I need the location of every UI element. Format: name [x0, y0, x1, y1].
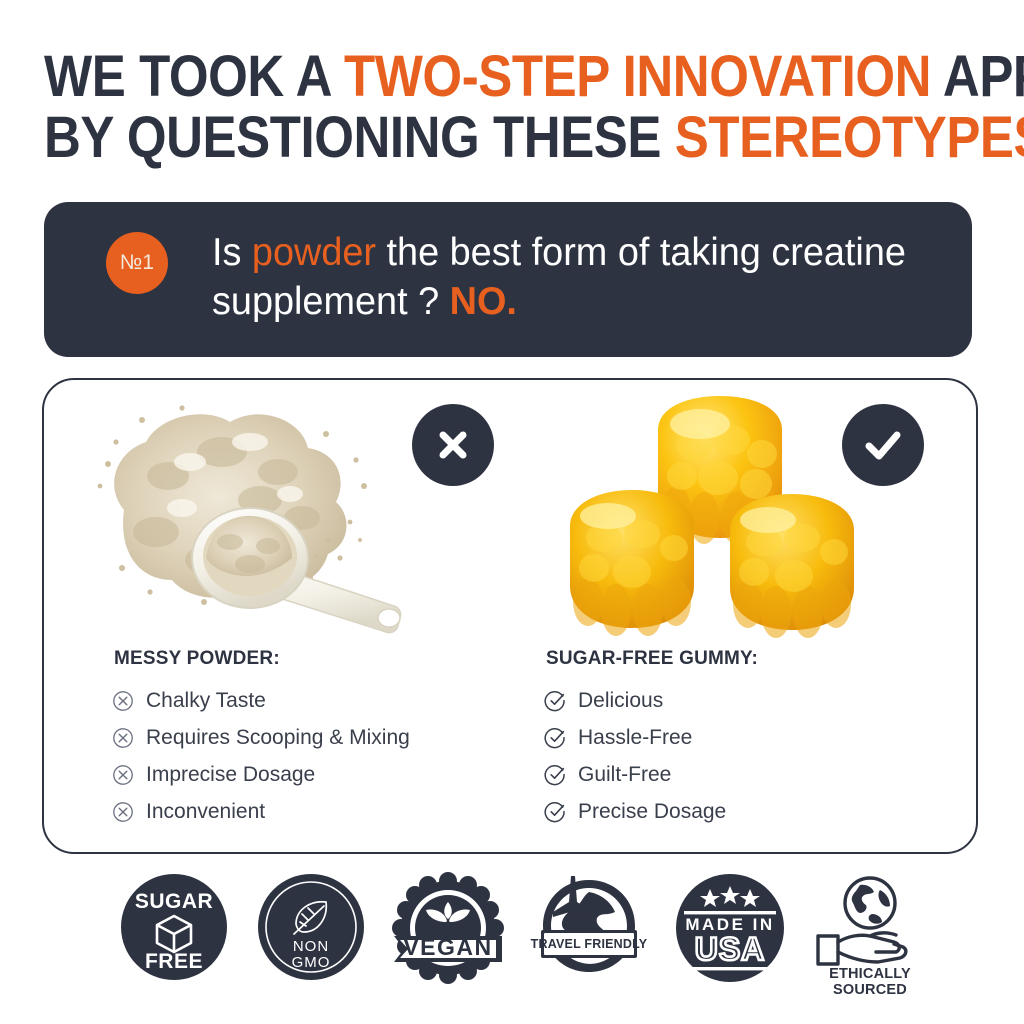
- question-text: Is powder the best form of taking creati…: [212, 228, 949, 326]
- list-item-label: Inconvenient: [146, 800, 265, 824]
- headline-accent-2: STEREOTYPES: [675, 105, 1024, 170]
- circle-x-icon: [112, 801, 146, 823]
- list-item-label: Delicious: [578, 689, 663, 713]
- list-item: Imprecise Dosage: [112, 756, 542, 793]
- page-headline: WE TOOK A TWO-STEP INNOVATION APPROACH B…: [44, 46, 871, 168]
- sugar-free-seal-line2: FREE: [145, 950, 203, 973]
- powder-scoop-image: [64, 390, 444, 645]
- list-item-label: Hassle-Free: [578, 726, 692, 750]
- non-gmo-seal: NON GMO: [249, 872, 373, 1004]
- non-gmo-seal-line1: NON: [293, 938, 329, 955]
- headline-line-1: WE TOOK A TWO-STEP INNOVATION APPROACH: [44, 46, 871, 107]
- non-gmo-seal-line2: GMO: [292, 954, 331, 971]
- list-item: Hassle-Free: [544, 719, 964, 756]
- made-in-usa-seal: MADE IN USA: [668, 872, 792, 1004]
- circle-check-icon: [544, 726, 578, 749]
- list-item-label: Imprecise Dosage: [146, 763, 315, 787]
- powder-illustration: [64, 390, 444, 645]
- list-item: Inconvenient: [112, 793, 542, 830]
- list-item: Chalky Taste: [112, 682, 542, 719]
- circle-x-icon: [112, 727, 146, 749]
- circle-check-icon: [544, 800, 578, 823]
- headline-text-3: BY QUESTIONING THESE: [44, 105, 675, 170]
- list-item-label: Requires Scooping & Mixing: [146, 726, 410, 750]
- verdict-cross-badge: [412, 404, 494, 486]
- verdict-check-badge: [842, 404, 924, 486]
- gummy-column-title: SUGAR-FREE GUMMY:: [546, 648, 964, 670]
- vegan-seal: VEGAN: [386, 872, 510, 1004]
- sugar-free-seal: SUGAR FREE: [112, 872, 236, 1004]
- ethically-sourced-line2: SOURCED: [833, 982, 907, 998]
- comparison-card: MESSY POWDER: Chalky Taste: [42, 378, 978, 854]
- travel-friendly-seal-label: TRAVEL FRIENDLY: [531, 937, 648, 951]
- infographic-page: WE TOOK A TWO-STEP INNOVATION APPROACH B…: [0, 0, 1024, 1024]
- certification-seal-row: SUGAR FREE NON GMO: [0, 872, 1024, 1012]
- question-number-badge: №1: [106, 232, 168, 294]
- check-icon: [859, 423, 907, 467]
- gummies-illustration: [554, 390, 894, 645]
- list-item-label: Chalky Taste: [146, 689, 266, 713]
- powder-column-title: MESSY POWDER:: [114, 648, 542, 670]
- list-item: Delicious: [544, 682, 964, 719]
- question-accent-powder: powder: [252, 231, 376, 274]
- gummies-image: [554, 390, 894, 645]
- list-item-label: Guilt-Free: [578, 763, 671, 787]
- made-in-usa-seal-line2: USA: [695, 931, 766, 967]
- sugar-free-seal-line1: SUGAR: [135, 890, 213, 913]
- list-item: Requires Scooping & Mixing: [112, 719, 542, 756]
- circle-x-icon: [112, 690, 146, 712]
- circle-x-icon: [112, 764, 146, 786]
- gummy-column: SUGAR-FREE GUMMY: Delicious H: [544, 648, 964, 830]
- circle-check-icon: [544, 689, 578, 712]
- list-item: Precise Dosage: [544, 793, 964, 830]
- question-text-1: Is: [212, 231, 252, 274]
- cross-icon: [431, 423, 475, 467]
- powder-column: MESSY POWDER: Chalky Taste: [112, 648, 542, 830]
- ethically-sourced-seal: ETHICALLY SOURCED: [806, 872, 930, 1004]
- question-banner: №1 Is powder the best form of taking cre…: [44, 202, 972, 357]
- ethically-sourced-line1: ETHICALLY: [829, 966, 911, 982]
- question-answer-no: NO.: [450, 280, 517, 323]
- circle-check-icon: [544, 763, 578, 786]
- headline-text-2: APPROACH: [931, 44, 1024, 109]
- headline-accent-1: TWO-STEP INNOVATION: [344, 44, 931, 109]
- list-item: Guilt-Free: [544, 756, 964, 793]
- vegan-seal-label: VEGAN: [403, 934, 492, 960]
- headline-text-1: WE TOOK A: [44, 44, 344, 109]
- travel-friendly-seal: TRAVEL FRIENDLY: [527, 872, 651, 1004]
- headline-line-2: BY QUESTIONING THESE STEREOTYPES: [44, 107, 871, 168]
- list-item-label: Precise Dosage: [578, 800, 726, 824]
